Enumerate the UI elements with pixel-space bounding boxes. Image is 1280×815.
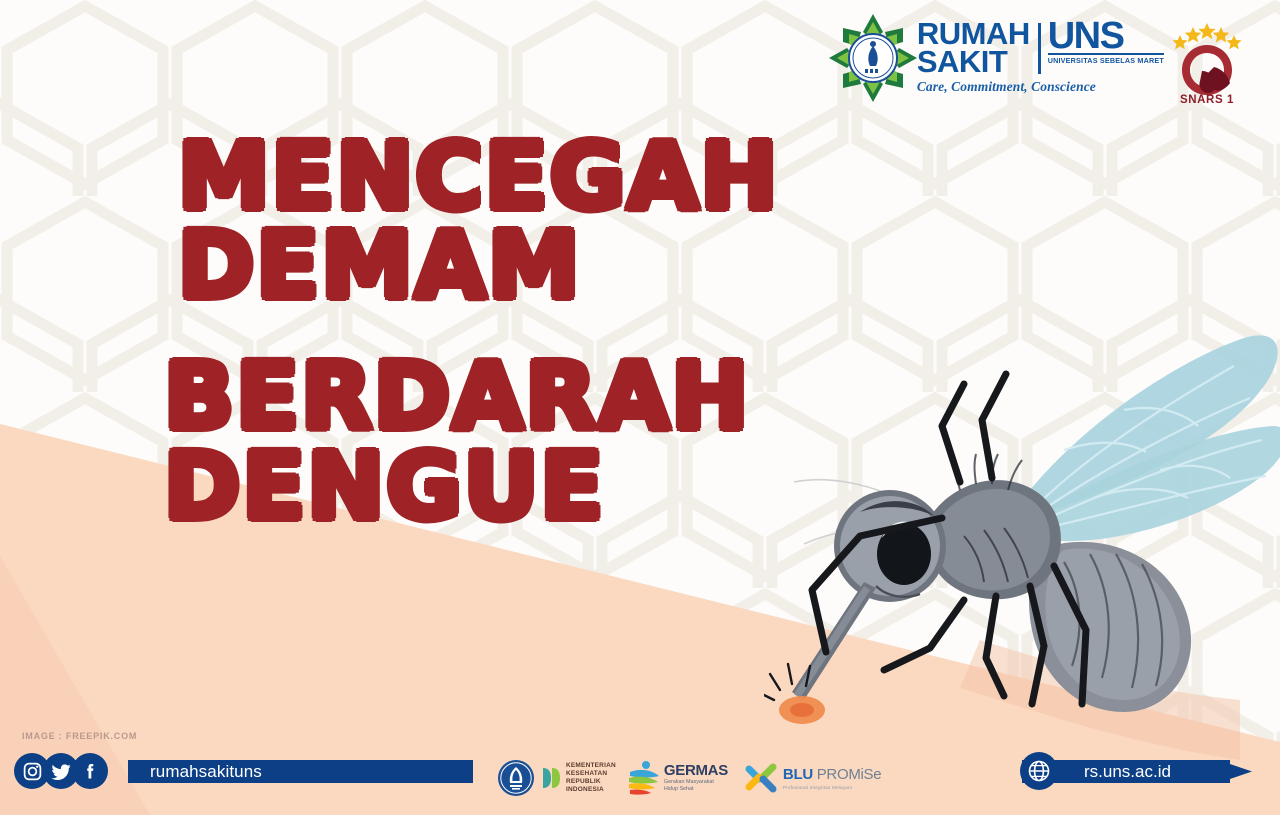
headline-line-2: BERDARAH DENGUE: [164, 352, 1138, 530]
uns-fullname: UNIVERSITAS SEBELAS MARET: [1048, 53, 1164, 65]
header-logo-lockup: RUMAH SAKIT UNS UNIVERSITAS SEBELAS MARE…: [827, 6, 1246, 110]
website-url: rs.uns.ac.id: [1084, 762, 1171, 782]
kemenkes-line-3: REPUBLIK: [566, 778, 616, 786]
uns-hospital-emblem: [827, 12, 919, 104]
germas-logo: GERMAS Gerakan Masyarakat Hidup Sehat: [626, 758, 728, 798]
germas-sub-1: Gerakan Masyarakat: [664, 779, 728, 786]
kemenkes-line-4: INDONESIA: [566, 786, 616, 794]
logo-divider: [1038, 23, 1041, 75]
social-handle-text: rumahsakituns: [150, 762, 262, 782]
uns-wordmark: UNS UNIVERSITAS SEBELAS MARET: [1048, 21, 1164, 65]
kemenkes-text: KEMENTERIAN KESEHATAN REPUBLIK INDONESIA: [566, 762, 616, 794]
partner-logo-group: KEMENTERIAN KESEHATAN REPUBLIK INDONESIA…: [496, 751, 881, 805]
headline-line-1: MENCEGAH DEMAM: [178, 132, 1138, 310]
word-sakit: SAKIT: [917, 47, 1030, 77]
blu-promise-text: BLU PROMiSe Profesional Integritas Melay…: [783, 767, 881, 790]
uns-abbrev: UNS: [1048, 21, 1164, 52]
image-credit: IMAGE : FREEPIK.COM: [22, 731, 137, 741]
poster-canvas: RUMAH SAKIT UNS UNIVERSITAS SEBELAS MARE…: [0, 0, 1280, 815]
poster-footer: rumahsakituns: [0, 747, 1280, 815]
blu-promise-mark-icon: [742, 759, 780, 797]
blu-title-light: PROMiSe: [813, 766, 881, 783]
germas-text: GERMAS Gerakan Masyarakat Hidup Sehat: [664, 763, 728, 793]
germas-mark-icon: [626, 758, 662, 798]
hospital-wordmark: RUMAH SAKIT UNS UNIVERSITAS SEBELAS MARE…: [917, 21, 1164, 96]
poster-headline: MENCEGAH DEMAM BERDARAH DENGUE: [178, 132, 1138, 531]
kemenkes-mark-icon: [539, 762, 563, 794]
snars-accreditation-badge: SNARS 1: [1168, 9, 1246, 107]
kemenkes-line-1: KEMENTERIAN: [566, 762, 616, 770]
globe-icon: [1020, 752, 1058, 790]
germas-sub-2: Hidup Sehat: [664, 786, 728, 793]
blu-title-bold: BLU: [783, 766, 813, 783]
snars-label: SNARS 1: [1168, 94, 1246, 106]
hospital-tagline: Care, Commitment, Conscience: [917, 79, 1164, 95]
kemenkes-logo: KEMENTERIAN KESEHATAN REPUBLIK INDONESIA: [496, 758, 616, 798]
tut-wuri-handayani-icon: [496, 758, 536, 798]
blu-subtitle: Profesional Integritas Melayani: [783, 785, 881, 790]
social-handle-bar: rumahsakituns: [128, 760, 473, 783]
social-icon-group: [14, 753, 101, 789]
germas-title: GERMAS: [664, 763, 728, 778]
kemenkes-line-2: KESEHATAN: [566, 770, 616, 778]
word-rumah: RUMAH: [917, 21, 1030, 47]
blu-promise-logo: BLU PROMiSe Profesional Integritas Melay…: [742, 759, 881, 797]
facebook-icon[interactable]: [72, 753, 108, 789]
